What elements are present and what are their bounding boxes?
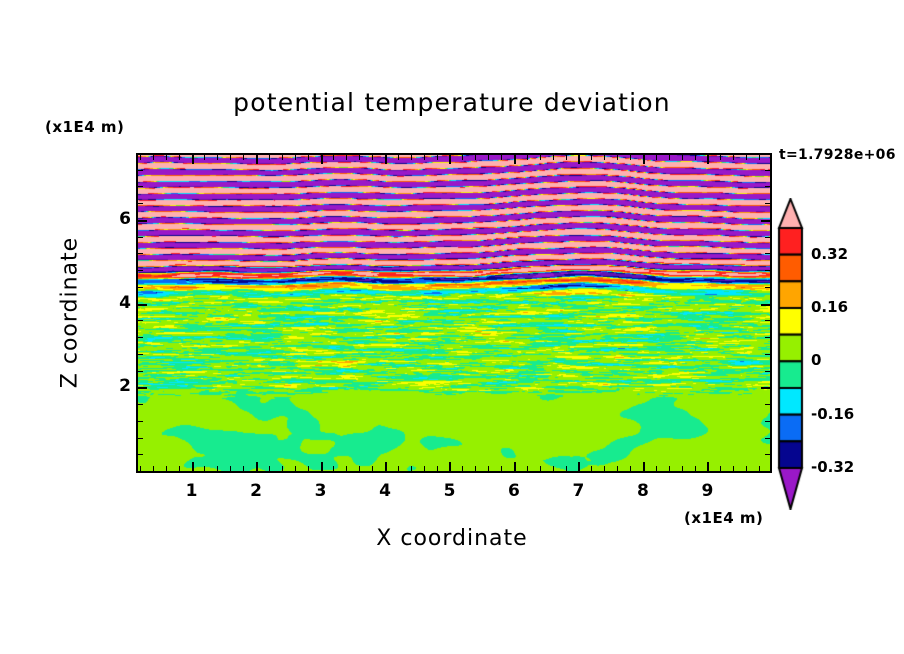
- tick-mark: [424, 466, 425, 471]
- tick-mark: [138, 186, 143, 187]
- tick-mark: [138, 220, 147, 222]
- x-tick-label: 6: [494, 481, 534, 501]
- tick-mark: [138, 421, 143, 422]
- tick-mark: [269, 155, 270, 160]
- tick-mark: [527, 155, 528, 160]
- tick-mark: [346, 155, 347, 160]
- tick-mark: [746, 466, 747, 471]
- tick-mark: [591, 466, 592, 471]
- tick-mark: [591, 155, 592, 160]
- tick-mark: [746, 155, 747, 160]
- tick-mark: [243, 466, 244, 471]
- tick-mark: [411, 466, 412, 471]
- tick-mark: [192, 155, 194, 164]
- tick-mark: [372, 155, 373, 160]
- y-axis-unit-label: (x1E4 m): [45, 118, 124, 136]
- tick-mark: [566, 466, 567, 471]
- tick-mark: [604, 466, 605, 471]
- tick-mark: [138, 404, 143, 405]
- tick-mark: [488, 155, 489, 160]
- tick-mark: [765, 270, 770, 271]
- tick-mark: [720, 155, 721, 160]
- tick-mark: [765, 320, 770, 321]
- tick-mark: [656, 155, 657, 160]
- colorbar: [776, 198, 816, 510]
- tick-mark: [682, 466, 683, 471]
- tick-mark: [437, 155, 438, 160]
- tick-mark: [765, 170, 770, 171]
- tick-mark: [761, 304, 770, 306]
- tick-mark: [398, 155, 399, 160]
- tick-mark: [695, 155, 696, 160]
- x-tick-label: 7: [558, 481, 598, 501]
- tick-mark: [765, 438, 770, 439]
- tick-mark: [765, 253, 770, 254]
- tick-mark: [308, 155, 309, 160]
- tick-mark: [138, 337, 143, 338]
- tick-mark: [179, 466, 180, 471]
- tick-mark: [578, 155, 580, 164]
- tick-mark: [138, 387, 147, 389]
- tick-mark: [372, 466, 373, 471]
- tick-mark: [759, 466, 760, 471]
- tick-mark: [243, 155, 244, 160]
- y-tick-label: 2: [91, 376, 131, 396]
- tick-mark: [192, 462, 194, 471]
- tick-mark: [488, 466, 489, 471]
- figure-canvas: potential temperature deviation (x1E4 m)…: [0, 0, 904, 654]
- tick-mark: [411, 155, 412, 160]
- tick-mark: [138, 438, 143, 439]
- tick-mark: [669, 155, 670, 160]
- tick-mark: [514, 155, 516, 164]
- tick-mark: [707, 462, 709, 471]
- tick-mark: [617, 466, 618, 471]
- tick-mark: [475, 155, 476, 160]
- tick-mark: [462, 155, 463, 160]
- tick-mark: [437, 466, 438, 471]
- tick-mark: [707, 155, 709, 164]
- tick-mark: [140, 155, 141, 160]
- tick-mark: [765, 471, 770, 472]
- colorbar-tick-label: 0.32: [811, 245, 848, 263]
- tick-mark: [346, 466, 347, 471]
- x-tick-label: 2: [236, 481, 276, 501]
- tick-mark: [230, 155, 231, 160]
- tick-mark: [138, 237, 143, 238]
- tick-mark: [765, 186, 770, 187]
- tick-mark: [385, 462, 387, 471]
- tick-mark: [153, 466, 154, 471]
- tick-mark: [761, 387, 770, 389]
- tick-mark: [385, 155, 387, 164]
- tick-mark: [321, 155, 323, 164]
- tick-mark: [138, 170, 143, 171]
- tick-mark: [359, 466, 360, 471]
- tick-mark: [527, 466, 528, 471]
- tick-mark: [501, 155, 502, 160]
- tick-mark: [138, 320, 143, 321]
- x-tick-label: 9: [687, 481, 727, 501]
- tick-mark: [540, 466, 541, 471]
- tick-mark: [138, 270, 143, 271]
- chart-title: potential temperature deviation: [0, 88, 904, 117]
- tick-mark: [682, 155, 683, 160]
- tick-mark: [359, 155, 360, 160]
- tick-mark: [138, 304, 147, 306]
- tick-mark: [153, 155, 154, 160]
- tick-mark: [256, 155, 258, 164]
- x-tick-label: 3: [301, 481, 341, 501]
- tick-mark: [179, 155, 180, 160]
- contour-field: [138, 155, 770, 471]
- tick-mark: [217, 466, 218, 471]
- tick-mark: [204, 155, 205, 160]
- tick-mark: [656, 466, 657, 471]
- tick-mark: [217, 155, 218, 160]
- tick-mark: [138, 203, 143, 204]
- tick-mark: [138, 471, 143, 472]
- tick-mark: [138, 371, 143, 372]
- x-axis-title: X coordinate: [0, 526, 904, 551]
- colorbar-tick-label: -0.32: [811, 458, 854, 476]
- tick-mark: [765, 203, 770, 204]
- tick-mark: [449, 462, 451, 471]
- tick-mark: [282, 155, 283, 160]
- tick-mark: [553, 466, 554, 471]
- tick-mark: [501, 466, 502, 471]
- tick-mark: [765, 454, 770, 455]
- colorbar-tick-label: -0.16: [811, 405, 854, 423]
- tick-mark: [269, 466, 270, 471]
- tick-mark: [204, 466, 205, 471]
- tick-mark: [720, 466, 721, 471]
- tick-mark: [282, 466, 283, 471]
- x-tick-label: 5: [429, 481, 469, 501]
- time-stamp-label: t=1.7928e+06: [779, 147, 896, 163]
- y-tick-label: 6: [91, 209, 131, 229]
- tick-mark: [765, 354, 770, 355]
- tick-mark: [617, 155, 618, 160]
- tick-mark: [765, 237, 770, 238]
- tick-mark: [166, 466, 167, 471]
- tick-mark: [643, 155, 645, 164]
- tick-mark: [759, 155, 760, 160]
- plot-area: [136, 153, 772, 473]
- tick-mark: [733, 466, 734, 471]
- tick-mark: [138, 454, 143, 455]
- tick-mark: [295, 155, 296, 160]
- tick-mark: [761, 220, 770, 222]
- tick-mark: [514, 462, 516, 471]
- tick-mark: [630, 466, 631, 471]
- tick-mark: [138, 287, 143, 288]
- tick-mark: [308, 466, 309, 471]
- tick-mark: [295, 466, 296, 471]
- y-axis-title: Z coordinate: [58, 203, 83, 423]
- tick-mark: [333, 466, 334, 471]
- tick-mark: [424, 155, 425, 160]
- tick-mark: [138, 253, 143, 254]
- x-axis-unit-label: (x1E4 m): [684, 509, 763, 527]
- tick-mark: [765, 421, 770, 422]
- tick-mark: [765, 371, 770, 372]
- colorbar-tick-label: 0: [811, 351, 821, 369]
- y-tick-label: 4: [91, 293, 131, 313]
- x-tick-label: 4: [365, 481, 405, 501]
- tick-mark: [475, 466, 476, 471]
- tick-mark: [578, 462, 580, 471]
- tick-mark: [321, 462, 323, 471]
- tick-mark: [256, 462, 258, 471]
- tick-mark: [398, 466, 399, 471]
- tick-mark: [449, 155, 451, 164]
- colorbar-swatches: [776, 198, 816, 510]
- tick-mark: [669, 466, 670, 471]
- tick-mark: [462, 466, 463, 471]
- tick-mark: [138, 354, 143, 355]
- tick-mark: [553, 155, 554, 160]
- colorbar-tick-label: 0.16: [811, 298, 848, 316]
- tick-mark: [765, 287, 770, 288]
- tick-mark: [566, 155, 567, 160]
- tick-mark: [333, 155, 334, 160]
- x-tick-label: 8: [623, 481, 663, 501]
- tick-mark: [540, 155, 541, 160]
- tick-mark: [166, 155, 167, 160]
- tick-mark: [630, 155, 631, 160]
- tick-mark: [695, 466, 696, 471]
- tick-mark: [765, 337, 770, 338]
- tick-mark: [643, 462, 645, 471]
- tick-mark: [604, 155, 605, 160]
- x-tick-label: 1: [172, 481, 212, 501]
- tick-mark: [765, 404, 770, 405]
- tick-mark: [733, 155, 734, 160]
- tick-mark: [230, 466, 231, 471]
